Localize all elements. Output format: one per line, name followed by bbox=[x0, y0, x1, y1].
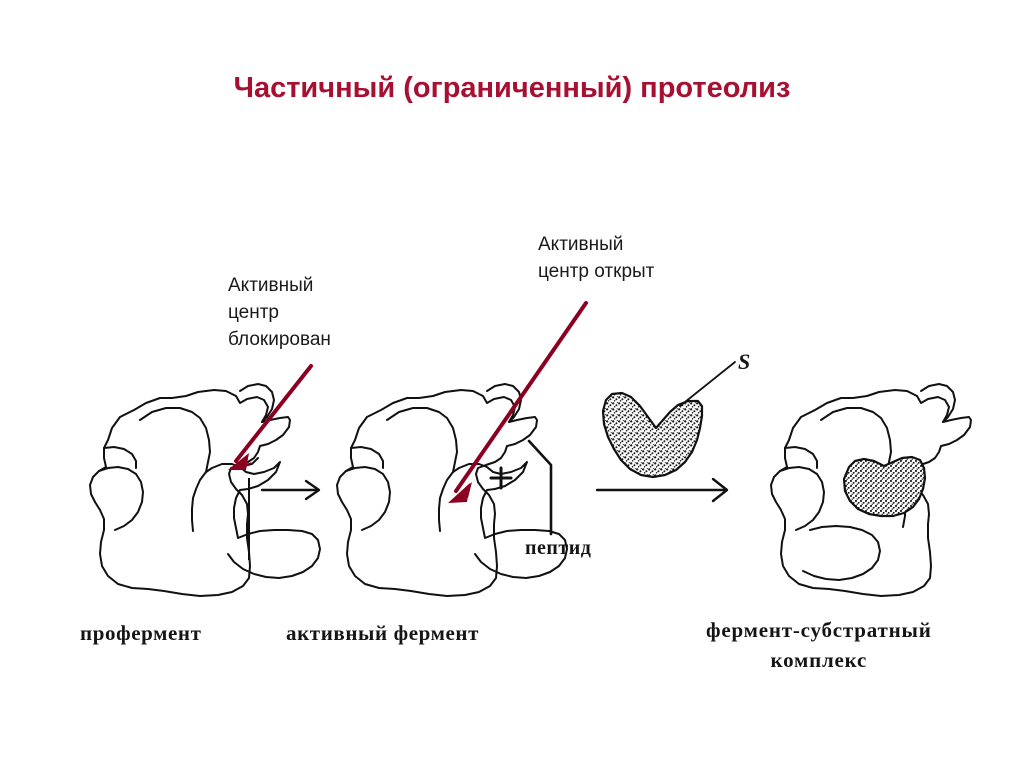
reaction-arrow-1 bbox=[262, 481, 319, 499]
annotation-top-line-1: Активный bbox=[538, 231, 654, 258]
shape-enzyme-substrate-complex bbox=[771, 384, 971, 596]
caption-proenzyme: профермент bbox=[80, 618, 202, 648]
annotation-active-center-blocked: Активный центр блокирован bbox=[228, 272, 331, 353]
annotation-left-line-1: Активный bbox=[228, 272, 331, 299]
caption-enzyme-substrate-complex: фермент-субстратный комплекс bbox=[706, 615, 932, 675]
annotation-arrow-left bbox=[228, 366, 311, 470]
annotation-active-center-open: Активный центр открыт bbox=[538, 231, 654, 285]
caption-complex-line-2: комплекс bbox=[706, 645, 932, 675]
shape-substrate bbox=[603, 393, 702, 477]
shape-proenzyme-blocked-site bbox=[236, 458, 258, 466]
annotation-top-line-2: центр открыт bbox=[538, 258, 654, 285]
label-substrate-s: S bbox=[738, 349, 750, 375]
reaction-arrow-2 bbox=[597, 479, 727, 501]
caption-complex-line-1: фермент-субстратный bbox=[706, 618, 932, 642]
substrate-leader-line bbox=[680, 362, 735, 406]
plus-sign bbox=[491, 468, 511, 488]
annotation-arrow-top bbox=[448, 303, 586, 503]
shape-active-enzyme bbox=[337, 384, 567, 596]
page-title: Частичный (ограниченный) протеолиз bbox=[0, 72, 1024, 105]
shape-peptide bbox=[529, 441, 551, 534]
caption-peptide: пептид bbox=[525, 533, 591, 563]
annotation-left-line-2: центр bbox=[228, 299, 331, 326]
shape-bound-substrate bbox=[844, 457, 925, 516]
slide-canvas: Частичный (ограниченный) протеолиз Актив… bbox=[0, 0, 1024, 767]
shape-proenzyme bbox=[90, 384, 320, 596]
caption-active-enzyme: активный фермент bbox=[286, 618, 479, 648]
annotation-left-line-3: блокирован bbox=[228, 326, 331, 353]
